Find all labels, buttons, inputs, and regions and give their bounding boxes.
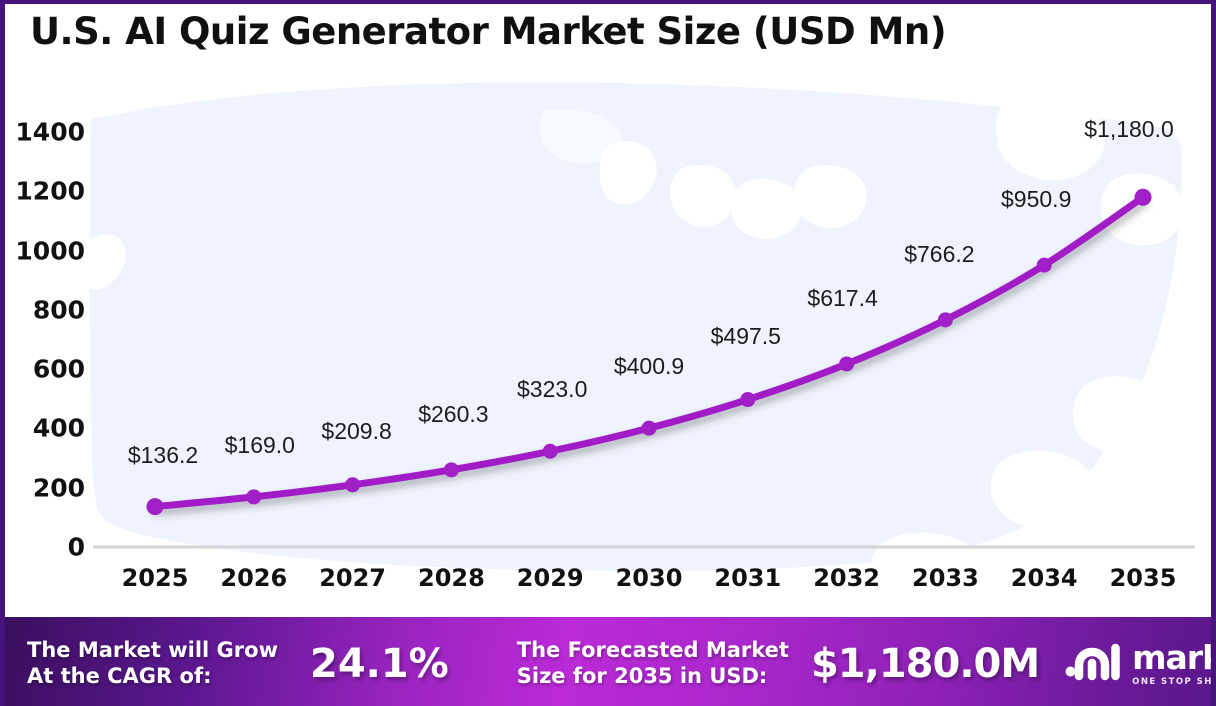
x-tick-label: 2027 <box>319 564 386 592</box>
x-tick-label: 2028 <box>418 564 485 592</box>
data-point-marker[interactable] <box>938 312 953 327</box>
data-point-label: $169.0 <box>225 432 295 459</box>
brand-text: market.us ONE STOP SHOP FOR THE REPORTS <box>1132 641 1216 687</box>
forecast-caption-line1: The Forecasted Market <box>517 638 789 664</box>
series-canvas <box>5 4 1216 617</box>
market-us-logo[interactable]: market.us ONE STOP SHOP FOR THE REPORTS <box>1065 640 1216 687</box>
plot-area: 0200400600800100012001400 20252026202720… <box>5 4 1216 617</box>
data-point-label: $400.9 <box>614 353 684 380</box>
bottom-banner: The Market will Grow At the CAGR of: 24.… <box>5 617 1216 706</box>
data-point-marker[interactable] <box>1037 258 1052 273</box>
data-point-label: $497.5 <box>711 323 781 350</box>
x-tick-label: 2025 <box>122 564 189 592</box>
x-tick-label: 2034 <box>1011 564 1078 592</box>
cagr-value: 24.1% <box>310 641 449 687</box>
forecast-caption: The Forecasted Market Size for 2035 in U… <box>517 638 789 689</box>
data-point-marker[interactable] <box>839 356 854 371</box>
chart-page: U.S. AI Quiz Generator Market Size (USD … <box>0 0 1216 706</box>
data-point-marker[interactable] <box>1135 189 1152 206</box>
data-point-label: $766.2 <box>904 241 974 268</box>
data-point-marker[interactable] <box>642 421 657 436</box>
market-us-mark-icon <box>1065 640 1123 687</box>
x-tick-label: 2031 <box>714 564 781 592</box>
data-point-label: $209.8 <box>321 418 391 445</box>
data-point-marker[interactable] <box>147 498 164 515</box>
cagr-caption: The Market will Grow At the CAGR of: <box>27 638 278 689</box>
x-tick-label: 2035 <box>1110 564 1177 592</box>
data-point-marker[interactable] <box>543 444 558 459</box>
x-tick-label: 2032 <box>813 564 880 592</box>
brand-tagline: ONE STOP SHOP FOR THE REPORTS <box>1132 677 1216 687</box>
data-point-label: $260.3 <box>418 401 488 428</box>
data-point-marker[interactable] <box>246 489 261 504</box>
data-point-marker[interactable] <box>444 462 459 477</box>
data-point-label: $950.9 <box>1001 186 1071 213</box>
forecast-caption-line2: Size for 2035 in USD: <box>517 664 789 690</box>
data-point-label: $323.0 <box>517 376 587 403</box>
x-tick-label: 2033 <box>912 564 979 592</box>
data-point-label: $617.4 <box>807 285 877 312</box>
data-point-marker[interactable] <box>345 477 360 492</box>
data-point-marker[interactable] <box>740 392 755 407</box>
brand-name: market.us <box>1132 641 1216 674</box>
line-series <box>147 189 1152 515</box>
x-tick-label: 2029 <box>517 564 584 592</box>
series-line <box>155 197 1143 506</box>
data-point-label: $1,180.0 <box>1084 116 1174 143</box>
forecast-value: $1,180.0M <box>811 641 1039 687</box>
cagr-caption-line1: The Market will Grow <box>27 638 278 664</box>
data-point-label: $136.2 <box>128 442 198 469</box>
x-tick-label: 2030 <box>616 564 683 592</box>
x-tick-label: 2026 <box>220 564 287 592</box>
cagr-caption-line2: At the CAGR of: <box>27 664 278 690</box>
